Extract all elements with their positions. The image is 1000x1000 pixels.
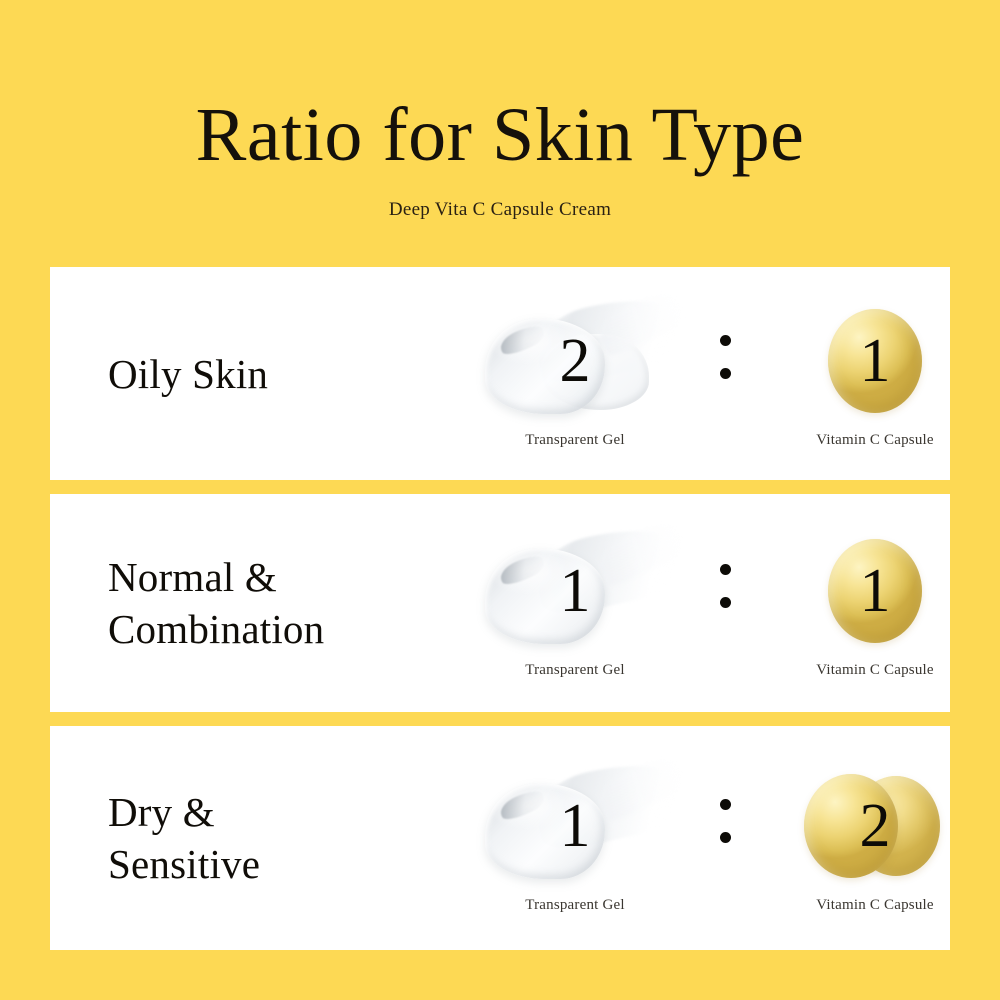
transparent-gel-icon: 2: [475, 300, 675, 422]
colon-dot-top: [720, 564, 731, 575]
ratio-row-oily-skin: Oily Skin 2 Transparent Gel 1: [50, 267, 950, 480]
colon-dot-top: [720, 799, 731, 810]
colon-dot-bottom: [720, 368, 731, 379]
skin-type-label: Normal & Combination: [108, 551, 324, 655]
vitamin-c-capsule-group: 1 Vitamin C Capsule: [750, 494, 1000, 712]
ratio-separator: [700, 267, 750, 480]
transparent-gel-group: 1 Transparent Gel: [450, 726, 700, 950]
header: Ratio for Skin Type Deep Vita C Capsule …: [0, 0, 1000, 267]
transparent-gel-icon: 1: [475, 765, 675, 887]
ratio-row-list: Oily Skin 2 Transparent Gel 1: [50, 267, 950, 950]
transparent-gel-icon: 1: [475, 530, 675, 652]
page-subtitle: Deep Vita C Capsule Cream: [0, 173, 1000, 221]
ratio-row-normal-combination: Normal & Combination 1 Transparent Gel 1: [50, 494, 950, 712]
gel-caption: Transparent Gel: [525, 897, 625, 914]
vitamin-c-capsule-group: 2 Vitamin C Capsule: [750, 726, 1000, 950]
capsule-caption: Vitamin C Capsule: [816, 662, 934, 679]
vitamin-c-capsule-icon: 1: [790, 531, 960, 651]
skin-type-label: Dry & Sensitive: [108, 786, 260, 890]
vitamin-c-capsule-icon: 2: [790, 766, 960, 886]
ratio-separator: [700, 494, 750, 712]
colon-dot-top: [720, 335, 731, 346]
vitamin-c-capsule-icon: 1: [790, 301, 960, 421]
ratio-separator: [700, 726, 750, 950]
transparent-gel-group: 2 Transparent Gel: [450, 267, 700, 480]
page-title: Ratio for Skin Type: [0, 0, 1000, 173]
colon-dot-bottom: [720, 832, 731, 843]
skin-type-label: Oily Skin: [108, 347, 268, 399]
gel-caption: Transparent Gel: [525, 432, 625, 449]
gel-caption: Transparent Gel: [525, 662, 625, 679]
capsule-caption: Vitamin C Capsule: [816, 897, 934, 914]
ratio-row-dry-sensitive: Dry & Sensitive 1 Transparent Gel: [50, 726, 950, 950]
capsule-caption: Vitamin C Capsule: [816, 432, 934, 449]
colon-dot-bottom: [720, 597, 731, 608]
vitamin-c-capsule-group: 1 Vitamin C Capsule: [750, 267, 1000, 480]
transparent-gel-group: 1 Transparent Gel: [450, 494, 700, 712]
